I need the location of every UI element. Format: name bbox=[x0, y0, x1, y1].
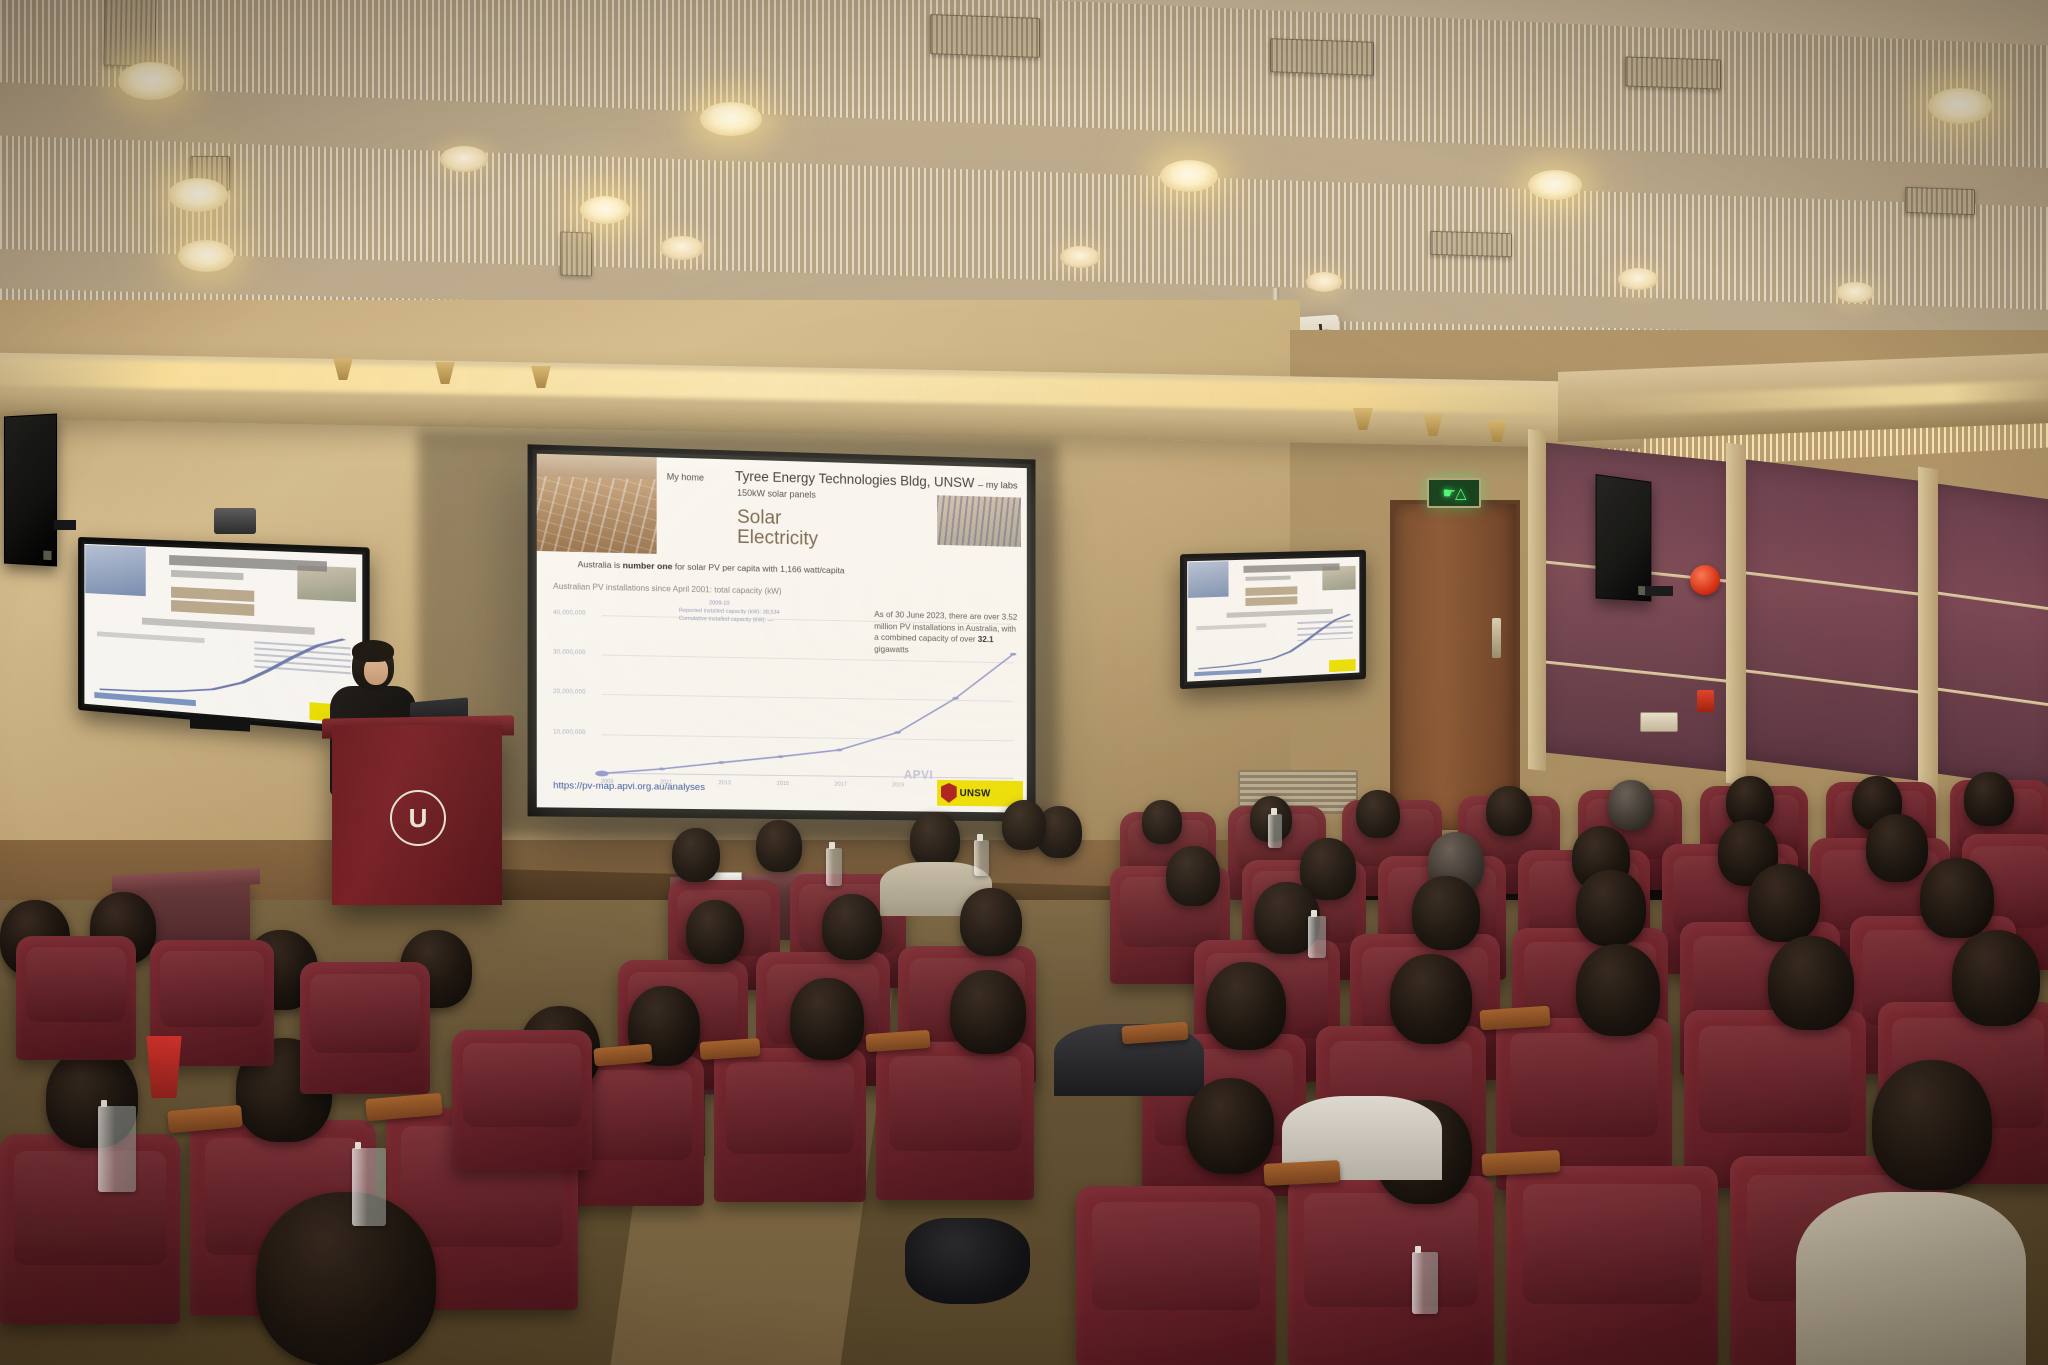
note-line4-suffix: gigawatts bbox=[874, 643, 909, 654]
slide-title-suffix: – my labs bbox=[978, 480, 1018, 492]
audience-shoulders bbox=[1796, 1192, 2026, 1365]
confidence-monitor-right bbox=[1180, 550, 1366, 689]
slide-claim: Australia is number one for solar PV per… bbox=[578, 559, 845, 575]
slide-title-main: Tyree Energy Technologies Bldg, UNSW bbox=[735, 469, 974, 491]
slide-label-my-home: My home bbox=[667, 472, 704, 483]
audience-head bbox=[950, 970, 1026, 1054]
seat[interactable] bbox=[714, 1048, 866, 1202]
ceiling-downlight bbox=[1836, 282, 1874, 303]
ceiling-downlight bbox=[1060, 246, 1100, 268]
monitor-right-slide-thumbnail bbox=[1187, 557, 1359, 682]
water-bottle[interactable] bbox=[1268, 814, 1282, 848]
unsw-logo: UNSW bbox=[937, 780, 1023, 807]
note-bold-value: 32.1 bbox=[978, 634, 994, 644]
air-vent bbox=[1905, 187, 1975, 215]
university-emblem: U bbox=[390, 790, 446, 846]
air-vent bbox=[1625, 56, 1721, 89]
unsw-crest-icon bbox=[941, 783, 957, 803]
audience-head bbox=[1186, 1078, 1274, 1174]
claim-suffix: for solar PV per capita with 1,166 watt/… bbox=[675, 561, 845, 575]
audience-head bbox=[1142, 800, 1182, 844]
air-vent bbox=[1270, 38, 1374, 76]
audience-head bbox=[1206, 962, 1286, 1050]
claim-bold: number one bbox=[623, 560, 673, 571]
audience-head bbox=[672, 828, 720, 882]
ceiling-downlight bbox=[1306, 272, 1342, 292]
ceiling-downlight bbox=[1618, 268, 1658, 290]
exit-sign: ☛△ bbox=[1427, 478, 1481, 508]
audience-head bbox=[1608, 780, 1654, 830]
ceiling-downlight bbox=[1928, 88, 1992, 124]
audience-head bbox=[686, 900, 744, 964]
water-bottle[interactable] bbox=[826, 848, 842, 886]
audience-head bbox=[1768, 936, 1854, 1030]
audience-head bbox=[1576, 944, 1660, 1036]
slide-headline: Solar Electricity bbox=[737, 508, 818, 550]
seat-armrest bbox=[1481, 1150, 1560, 1176]
wall-stile bbox=[1918, 467, 1938, 800]
unsw-logo-text: UNSW bbox=[960, 788, 991, 799]
ceiling-downlight bbox=[168, 178, 228, 212]
wall-thermostat-panel[interactable] bbox=[1640, 712, 1678, 732]
audience-head bbox=[1412, 876, 1480, 950]
water-bottle[interactable] bbox=[1308, 916, 1326, 958]
audience-head bbox=[790, 978, 864, 1060]
air-vent bbox=[930, 14, 1040, 58]
audience-head bbox=[756, 820, 802, 872]
speaker-mount-arm bbox=[54, 520, 76, 530]
audience-head bbox=[1390, 954, 1472, 1044]
audience-head bbox=[1576, 870, 1646, 946]
chart-data-point bbox=[595, 771, 608, 777]
seat[interactable] bbox=[16, 936, 136, 1060]
wall-speaker-right bbox=[1596, 474, 1652, 601]
confidence-monitor-left bbox=[78, 537, 370, 735]
chart-y-tick-label: 30,000,000 bbox=[553, 650, 586, 657]
ceiling-downlight bbox=[700, 102, 762, 136]
speaker-mount-arm bbox=[1645, 586, 1673, 596]
chart-x-tick-label: 2017 bbox=[835, 782, 847, 788]
ceiling-downlight bbox=[580, 196, 630, 224]
ceiling-downlight bbox=[1160, 160, 1218, 192]
lecture-hall-scene: ☛△ My home Tyree Energy Technologies Bld… bbox=[0, 0, 2048, 1365]
audience-head bbox=[1356, 790, 1400, 838]
door-handle[interactable] bbox=[1492, 618, 1501, 658]
wall-stile bbox=[1528, 429, 1546, 771]
ceiling-downlight bbox=[1528, 170, 1582, 200]
chart-series-line bbox=[602, 646, 1013, 779]
chart-x-tick-label: 2013 bbox=[718, 780, 730, 786]
air-vent bbox=[560, 231, 592, 276]
ceiling-downlight bbox=[178, 240, 234, 272]
note-line1: As of 30 June 2023, there are over bbox=[874, 609, 999, 622]
note-line4-prefix: of over bbox=[951, 633, 976, 643]
audience-head bbox=[1964, 772, 2014, 826]
seat[interactable] bbox=[1076, 1186, 1276, 1365]
audience-head bbox=[1952, 930, 2040, 1026]
seat[interactable] bbox=[876, 1042, 1034, 1200]
presenter-hair bbox=[352, 640, 394, 662]
ceiling-downlight bbox=[118, 62, 184, 100]
seat[interactable] bbox=[1288, 1176, 1494, 1365]
seat-armrest bbox=[1263, 1160, 1340, 1186]
air-vent bbox=[103, 0, 156, 66]
water-bottle[interactable] bbox=[352, 1148, 386, 1226]
backpack[interactable] bbox=[905, 1218, 1030, 1304]
fire-alarm-bell-icon bbox=[1690, 565, 1720, 595]
audience-head bbox=[1486, 786, 1532, 836]
slide-headline-line2: Electricity bbox=[737, 528, 818, 550]
audience-head bbox=[910, 812, 960, 868]
projection-screen: My home Tyree Energy Technologies Bldg, … bbox=[528, 444, 1036, 821]
wall-speaker-left bbox=[4, 413, 57, 566]
projected-slide: My home Tyree Energy Technologies Bldg, … bbox=[537, 454, 1027, 813]
seat[interactable] bbox=[1506, 1166, 1718, 1365]
slide-photo-rooftop-solar bbox=[537, 454, 657, 554]
audience-head bbox=[960, 888, 1022, 956]
thumbnail-chart-curve bbox=[1198, 612, 1350, 672]
chart-x-tick-label: 2015 bbox=[777, 781, 789, 787]
audience-head bbox=[1748, 864, 1820, 942]
exit-door[interactable] bbox=[1390, 500, 1520, 830]
audience-head bbox=[256, 1192, 436, 1365]
air-vent bbox=[1430, 231, 1512, 257]
running-man-exit-icon: ☛△ bbox=[1443, 486, 1466, 501]
slide-photo-tyree-building bbox=[937, 495, 1021, 547]
chart-y-tick-label: 20,000,000 bbox=[553, 689, 586, 696]
audience-head bbox=[1872, 1060, 1992, 1190]
slide-right-note: As of 30 June 2023, there are over 3.52 … bbox=[874, 609, 1021, 658]
monitor-left-screen bbox=[84, 544, 362, 727]
monitor-left-slide-thumbnail bbox=[84, 544, 362, 727]
audience-head bbox=[1166, 846, 1220, 906]
seat[interactable] bbox=[0, 1134, 180, 1324]
monitor-right-screen bbox=[1187, 557, 1359, 682]
apvi-logo: APVI bbox=[904, 768, 933, 782]
chart-x-tick-label: 2019 bbox=[892, 782, 904, 788]
audience-head bbox=[822, 894, 882, 960]
emblem-letter: U bbox=[409, 805, 428, 831]
seat[interactable] bbox=[452, 1030, 592, 1170]
slide-source-url[interactable]: https://pv-map.apvi.org.au/analyses bbox=[553, 780, 705, 793]
water-bottle[interactable] bbox=[1412, 1252, 1438, 1314]
acoustic-panel bbox=[1742, 459, 1922, 781]
audience-head bbox=[1920, 858, 1994, 938]
ceiling-downlight bbox=[440, 146, 488, 172]
audience-head bbox=[1002, 800, 1046, 850]
av-camera bbox=[214, 508, 256, 534]
slide-subtitle: 150kW solar panels bbox=[737, 488, 816, 500]
seat[interactable] bbox=[300, 962, 430, 1094]
wall-stile bbox=[1726, 443, 1746, 785]
audience-head bbox=[1866, 814, 1928, 882]
claim-prefix: Australia is bbox=[578, 559, 621, 570]
slide-content: My home Tyree Energy Technologies Bldg, … bbox=[537, 454, 1027, 813]
water-bottle[interactable] bbox=[98, 1106, 136, 1192]
fire-alarm-pull-station[interactable] bbox=[1697, 690, 1714, 712]
chart-y-tick-label: 40,000,000 bbox=[553, 610, 586, 617]
water-bottle[interactable] bbox=[974, 840, 989, 876]
chart-y-tick-label: 10,000,000 bbox=[553, 729, 586, 736]
ceiling-downlight bbox=[660, 236, 704, 260]
acoustic-panel bbox=[1932, 483, 2048, 791]
